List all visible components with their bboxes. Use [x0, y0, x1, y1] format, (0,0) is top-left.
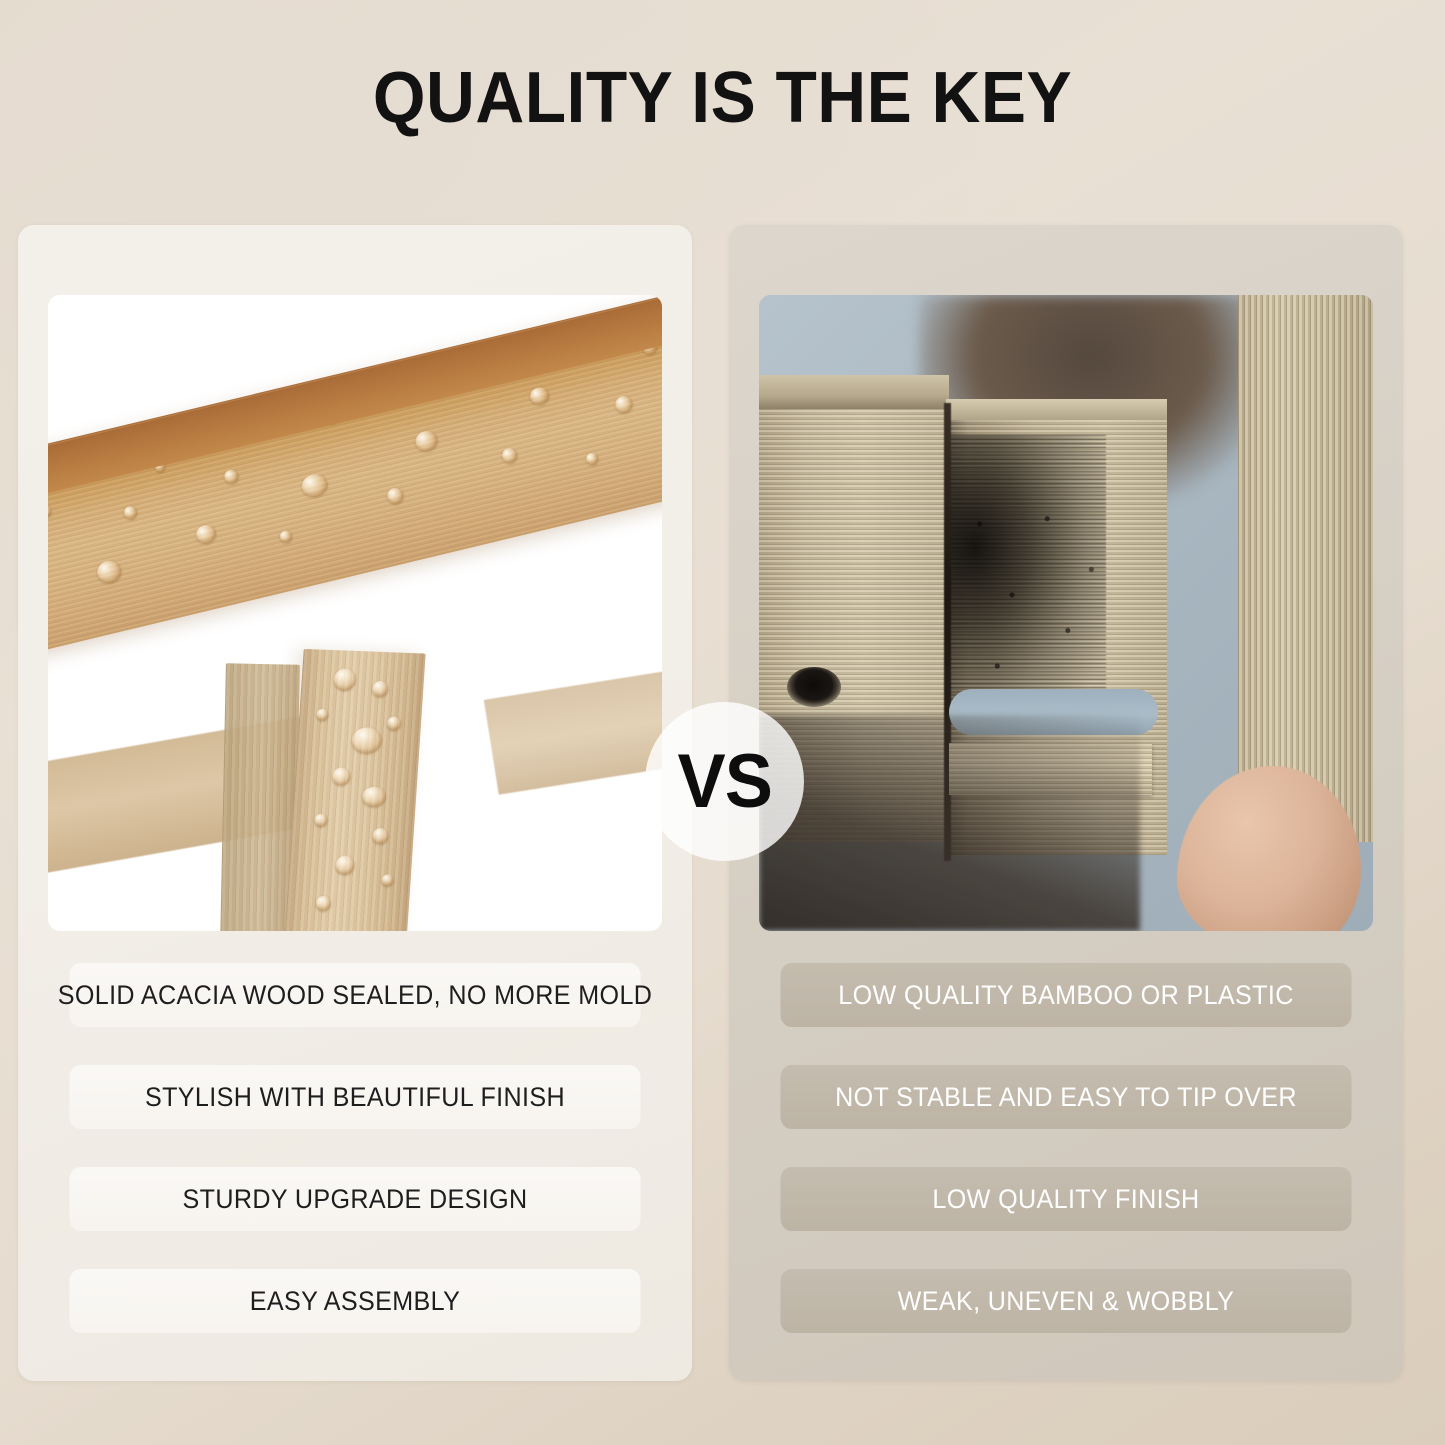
page-title: QUALITY IS THE KEY — [43, 62, 1401, 134]
vs-badge: VS — [645, 702, 804, 861]
comparison-infographic: QUALITY IS THE KEY — [0, 0, 1445, 1445]
bad-photo-bamboo-left-top-edge — [759, 375, 949, 409]
wood-grain-texture — [284, 649, 425, 931]
good-photo-leg-front — [284, 649, 425, 931]
water-droplet — [371, 827, 388, 844]
bamboo-grain-texture — [1238, 295, 1373, 842]
bad-product-card: LOW QUALITY BAMBOO OR PLASTIC NOT STABLE… — [729, 225, 1403, 1381]
vs-label: VS — [677, 744, 771, 820]
bad-photo-shadow — [759, 715, 1140, 931]
bad-feature-item: NOT STABLE AND EASY TO TIP OVER — [780, 1065, 1351, 1129]
bad-feature-list: LOW QUALITY BAMBOO OR PLASTIC NOT STABLE… — [759, 963, 1373, 1371]
bad-feature-item: WEAK, UNEVEN & WOBBLY — [780, 1269, 1351, 1333]
good-feature-item: EASY ASSEMBLY — [69, 1269, 640, 1333]
bad-feature-item: LOW QUALITY FINISH — [780, 1167, 1351, 1231]
good-photo-rail-right — [484, 667, 662, 794]
good-feature-item: SOLID ACACIA WOOD SEALED, NO MORE MOLD — [69, 963, 640, 1027]
good-feature-item: STYLISH WITH BEAUTIFUL FINISH — [69, 1065, 640, 1129]
water-droplet — [332, 668, 355, 691]
bad-product-photo — [759, 295, 1373, 931]
good-product-card: SOLID ACACIA WOOD SEALED, NO MORE MOLD S… — [18, 225, 692, 1381]
bad-photo-bamboo-post — [1238, 295, 1373, 842]
screw-hole — [787, 667, 841, 707]
water-droplet — [314, 813, 328, 826]
water-droplet — [316, 708, 329, 720]
bad-photo-bamboo-mid-top-edge — [946, 399, 1167, 419]
page-title-container: QUALITY IS THE KEY — [0, 62, 1445, 134]
good-feature-list: SOLID ACACIA WOOD SEALED, NO MORE MOLD S… — [48, 963, 662, 1371]
good-product-photo — [48, 295, 662, 931]
bad-feature-item: LOW QUALITY BAMBOO OR PLASTIC — [780, 963, 1351, 1027]
good-feature-item: STURDY UPGRADE DESIGN — [69, 1167, 640, 1231]
